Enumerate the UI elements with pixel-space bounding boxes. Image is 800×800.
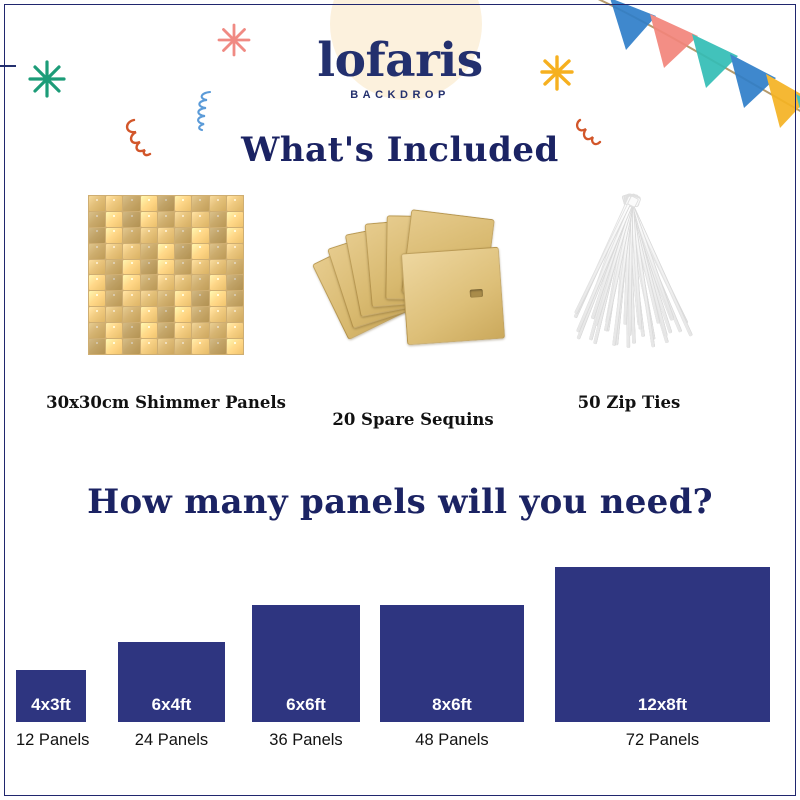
sequin-square [227, 260, 243, 275]
sequin-square [210, 228, 226, 243]
sequin-square [227, 244, 243, 259]
sequin-square [106, 228, 122, 243]
sequin-square [175, 339, 191, 354]
sequin-square [106, 307, 122, 322]
sequin-square [175, 228, 191, 243]
spare-sequins-stack-image [318, 212, 508, 342]
brand-tagline: BACKDROP [350, 89, 450, 101]
sequin-square [106, 260, 122, 275]
sequin-square [227, 339, 243, 354]
size-column[interactable]: 12x8ft72 Panels [555, 556, 770, 756]
sequin-square [89, 339, 105, 354]
panel-count-label: 72 Panels [555, 731, 770, 750]
sequin-square [192, 260, 208, 275]
sequin-square [89, 275, 105, 290]
products-row: 30x30cm Shimmer Panels 20 Spare Sequins … [0, 190, 800, 430]
sequin-square [210, 323, 226, 338]
sequin-square [141, 212, 157, 227]
infographic-page: lofaris BACKDROP What's Included 30x30cm… [0, 0, 800, 800]
sequin-square [192, 291, 208, 306]
sequin-square [158, 196, 174, 211]
sequin-square [89, 260, 105, 275]
sequin-square [106, 244, 122, 259]
sequin-square [141, 244, 157, 259]
sequin-square [158, 212, 174, 227]
sequin-square [210, 307, 226, 322]
sequin-square [175, 196, 191, 211]
sequin-square [123, 260, 139, 275]
size-label: 12x8ft [638, 695, 687, 722]
sequin-square [106, 323, 122, 338]
size-column[interactable]: 4x3ft12 Panels [16, 556, 116, 756]
sequin-square [141, 291, 157, 306]
sequin-square [89, 228, 105, 243]
sequin-square [141, 196, 157, 211]
sequin-square [192, 339, 208, 354]
sequin-square [158, 228, 174, 243]
sequin-square [210, 260, 226, 275]
sequin-square [123, 291, 139, 306]
sequin-square [227, 291, 243, 306]
sequin-square [175, 323, 191, 338]
sequin-square [158, 291, 174, 306]
sequin-square [89, 323, 105, 338]
sequin-square [141, 228, 157, 243]
size-bar[interactable]: 8x6ft [380, 605, 524, 722]
size-bar[interactable]: 6x4ft [118, 642, 225, 722]
sequin-square [175, 260, 191, 275]
sequin-square [89, 291, 105, 306]
sequin-square [141, 260, 157, 275]
product-caption: 20 Spare Sequins [332, 410, 493, 429]
sequin-square [158, 339, 174, 354]
product-caption: 30x30cm Shimmer Panels [46, 393, 286, 412]
brand-logo: lofaris BACKDROP [0, 36, 800, 101]
product-spare-sequins: 20 Spare Sequins [318, 212, 508, 342]
product-zip-ties: 50 Zip Ties [545, 195, 713, 355]
sequin-square [175, 275, 191, 290]
shimmer-panel-grid-image [88, 195, 244, 355]
sequin-square [192, 212, 208, 227]
sequin-square [106, 275, 122, 290]
sequin-square [210, 244, 226, 259]
heading-whats-included: What's Included [0, 130, 800, 170]
brand-name: lofaris [0, 36, 800, 86]
sequin-square [123, 307, 139, 322]
sequin-square [175, 244, 191, 259]
sequin-square [123, 228, 139, 243]
sequin-square [158, 307, 174, 322]
sequin-square [141, 323, 157, 338]
size-comparison-chart: 4x3ft12 Panels6x4ft24 Panels6x6ft36 Pane… [0, 556, 800, 756]
sequin-square [192, 275, 208, 290]
sequin-square [106, 196, 122, 211]
size-label: 4x3ft [31, 695, 71, 722]
sequin-square [141, 307, 157, 322]
sequin-square [106, 339, 122, 354]
size-column[interactable]: 8x6ft48 Panels [380, 556, 530, 756]
sequin-square [123, 323, 139, 338]
sequin-square [192, 307, 208, 322]
zip-ties-bundle-image [545, 195, 713, 355]
size-bar[interactable]: 6x6ft [252, 605, 360, 722]
sequin-square [192, 323, 208, 338]
panel-count-label: 36 Panels [252, 731, 360, 750]
sequin-square [123, 212, 139, 227]
size-column[interactable]: 6x4ft24 Panels [118, 556, 228, 756]
sequin-square [89, 307, 105, 322]
size-bar[interactable]: 12x8ft [555, 567, 770, 722]
sequin-square [141, 339, 157, 354]
sequin-square [123, 244, 139, 259]
heading-how-many-panels: How many panels will you need? [0, 482, 800, 522]
sequin-square [227, 228, 243, 243]
sequin-square [175, 212, 191, 227]
size-column[interactable]: 6x6ft36 Panels [252, 556, 362, 756]
sequin-square [192, 196, 208, 211]
size-label: 8x6ft [432, 695, 472, 722]
sequin-square [227, 196, 243, 211]
sequin-square [89, 244, 105, 259]
sequin-square [89, 196, 105, 211]
product-shimmer-panels: 30x30cm Shimmer Panels [88, 195, 244, 355]
brand-tagline-wrap: BACKDROP [0, 89, 800, 101]
product-caption: 50 Zip Ties [578, 393, 681, 412]
sequin-square [210, 291, 226, 306]
size-bar[interactable]: 4x3ft [16, 670, 86, 722]
panel-count-label: 12 Panels [16, 731, 86, 750]
sequin-square [123, 275, 139, 290]
sequin-square [141, 275, 157, 290]
sequin-square [158, 260, 174, 275]
sequin-square [175, 307, 191, 322]
panel-count-label: 24 Panels [118, 731, 225, 750]
sequin-square [123, 339, 139, 354]
sequin-square [227, 212, 243, 227]
sequin-square [158, 323, 174, 338]
sequin-square [123, 196, 139, 211]
sequin-square [175, 291, 191, 306]
sequin-square [192, 228, 208, 243]
size-label: 6x4ft [152, 695, 192, 722]
sequin-square [210, 212, 226, 227]
sequin-square [227, 307, 243, 322]
size-label: 6x6ft [286, 695, 326, 722]
sequin-square [210, 196, 226, 211]
sequin-square [210, 275, 226, 290]
sequin-square [192, 244, 208, 259]
sequin-square [158, 275, 174, 290]
sequin-square [227, 275, 243, 290]
sequin-square [106, 291, 122, 306]
sequin-square [210, 339, 226, 354]
sequin-square [89, 212, 105, 227]
sequin-square [106, 212, 122, 227]
sequin-square [227, 323, 243, 338]
sequin-square [158, 244, 174, 259]
panel-count-label: 48 Panels [380, 731, 524, 750]
tagline-right-dash-icon [0, 65, 16, 68]
